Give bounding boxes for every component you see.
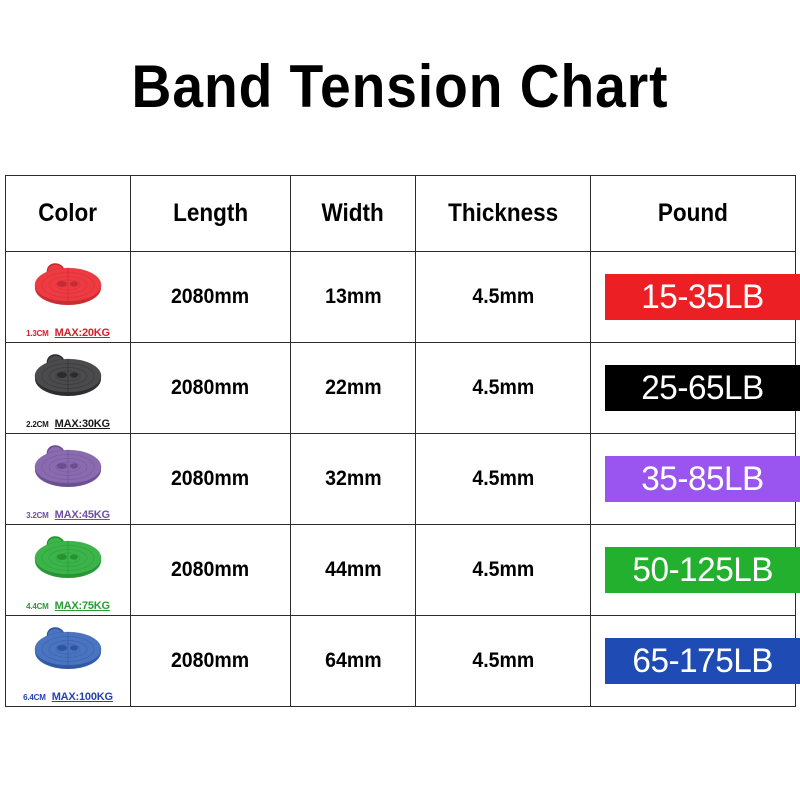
band-caption: 6.4CMMAX:100KG [6, 692, 130, 703]
cell-color-green: 4.4CMMAX:75KG [6, 525, 131, 616]
band-caption-max: MAX:75KG [55, 600, 110, 612]
width-value: 13mm [325, 285, 381, 309]
width-value: 64mm [325, 649, 381, 673]
length-value: 2080mm [171, 558, 249, 582]
band-image-blue: 6.4CMMAX:100KG [6, 616, 130, 706]
band-caption: 1.3CMMAX:20KG [6, 328, 130, 339]
length-value: 2080mm [171, 467, 249, 491]
cell-thickness: 4.5mm [416, 343, 591, 434]
band-caption-cm: 3.2CM [26, 511, 49, 520]
band-coil-icon [25, 531, 111, 585]
table-row: 2.2CMMAX:30KG 2080mm 22mm 4.5mm 25-65LB [6, 343, 796, 434]
cell-width: 64mm [291, 616, 416, 707]
cell-pound: 25-65LB [591, 343, 796, 434]
thickness-value: 4.5mm [472, 558, 534, 582]
column-header-width: Width [291, 176, 416, 252]
cell-width: 22mm [291, 343, 416, 434]
pound-badge: 15-35LB [605, 274, 800, 320]
width-value: 32mm [325, 467, 381, 491]
band-coil-icon [25, 258, 111, 312]
cell-pound: 65-175LB [591, 616, 796, 707]
band-image-green: 4.4CMMAX:75KG [6, 525, 130, 615]
pound-badge: 25-65LB [605, 365, 800, 411]
width-value: 22mm [325, 376, 381, 400]
band-caption-cm: 4.4CM [26, 602, 49, 611]
header-row: Color Length Width Thickness Pound [6, 176, 796, 252]
band-caption-cm: 1.3CM [26, 329, 49, 338]
band-caption-max: MAX:30KG [55, 418, 110, 430]
table-row: 4.4CMMAX:75KG 2080mm 44mm 4.5mm 50-125LB [6, 525, 796, 616]
cell-width: 13mm [291, 252, 416, 343]
thickness-value: 4.5mm [472, 467, 534, 491]
cell-length: 2080mm [131, 525, 291, 616]
table-row: 3.2CMMAX:45KG 2080mm 32mm 4.5mm 35-85LB [6, 434, 796, 525]
thickness-value: 4.5mm [472, 376, 534, 400]
band-coil-icon [25, 349, 111, 403]
cell-pound: 15-35LB [591, 252, 796, 343]
band-caption-max: MAX:100KG [52, 691, 113, 703]
cell-pound: 50-125LB [591, 525, 796, 616]
column-header-length: Length [131, 176, 291, 252]
band-caption: 2.2CMMAX:30KG [6, 419, 130, 430]
column-header-pound-label: Pound [658, 199, 728, 228]
pound-value: 15-35LB [642, 280, 765, 314]
cell-color-blue: 6.4CMMAX:100KG [6, 616, 131, 707]
cell-thickness: 4.5mm [416, 616, 591, 707]
thickness-value: 4.5mm [472, 649, 534, 673]
tension-table: Color Length Width Thickness Pound [5, 175, 796, 707]
cell-color-purple: 3.2CMMAX:45KG [6, 434, 131, 525]
band-image-black: 2.2CMMAX:30KG [6, 343, 130, 433]
pound-badge: 65-175LB [605, 638, 800, 684]
column-header-color-label: Color [39, 199, 98, 228]
pound-badge: 50-125LB [605, 547, 800, 593]
cell-thickness: 4.5mm [416, 525, 591, 616]
tension-table-container: Color Length Width Thickness Pound [5, 175, 795, 707]
cell-length: 2080mm [131, 252, 291, 343]
band-caption-max: MAX:45KG [55, 509, 110, 521]
column-header-width-label: Width [322, 199, 384, 228]
pound-value: 35-85LB [642, 462, 765, 496]
cell-width: 32mm [291, 434, 416, 525]
band-caption: 3.2CMMAX:45KG [6, 510, 130, 521]
pound-badge: 35-85LB [605, 456, 800, 502]
cell-pound: 35-85LB [591, 434, 796, 525]
cell-length: 2080mm [131, 616, 291, 707]
band-caption-max: MAX:20KG [55, 327, 110, 339]
cell-length: 2080mm [131, 343, 291, 434]
pound-value: 65-175LB [633, 644, 774, 678]
band-caption: 4.4CMMAX:75KG [6, 601, 130, 612]
page-title: Band Tension Chart [32, 56, 768, 118]
column-header-thickness-label: Thickness [448, 199, 558, 228]
length-value: 2080mm [171, 649, 249, 673]
cell-length: 2080mm [131, 434, 291, 525]
cell-color-red: 1.3CMMAX:20KG [6, 252, 131, 343]
table-row: 1.3CMMAX:20KG 2080mm 13mm 4.5mm 15-35LB [6, 252, 796, 343]
band-caption-cm: 2.2CM [26, 420, 49, 429]
width-value: 44mm [325, 558, 381, 582]
length-value: 2080mm [171, 376, 249, 400]
column-header-thickness: Thickness [416, 176, 591, 252]
length-value: 2080mm [171, 285, 249, 309]
band-caption-cm: 6.4CM [23, 693, 46, 702]
pound-value: 25-65LB [642, 371, 765, 405]
column-header-color: Color [6, 176, 131, 252]
column-header-pound: Pound [591, 176, 796, 252]
table-row: 6.4CMMAX:100KG 2080mm 64mm 4.5mm 65-175L… [6, 616, 796, 707]
table-header: Color Length Width Thickness Pound [6, 176, 796, 252]
column-header-length-label: Length [173, 199, 248, 228]
band-image-purple: 3.2CMMAX:45KG [6, 434, 130, 524]
table-body: 1.3CMMAX:20KG 2080mm 13mm 4.5mm 15-35LB [6, 252, 796, 707]
cell-thickness: 4.5mm [416, 434, 591, 525]
cell-color-black: 2.2CMMAX:30KG [6, 343, 131, 434]
cell-thickness: 4.5mm [416, 252, 591, 343]
band-image-red: 1.3CMMAX:20KG [6, 252, 130, 342]
band-tension-chart-page: Band Tension Chart Color Length [0, 0, 800, 800]
thickness-value: 4.5mm [472, 285, 534, 309]
pound-value: 50-125LB [633, 553, 774, 587]
band-coil-icon [25, 622, 111, 676]
cell-width: 44mm [291, 525, 416, 616]
band-coil-icon [25, 440, 111, 494]
